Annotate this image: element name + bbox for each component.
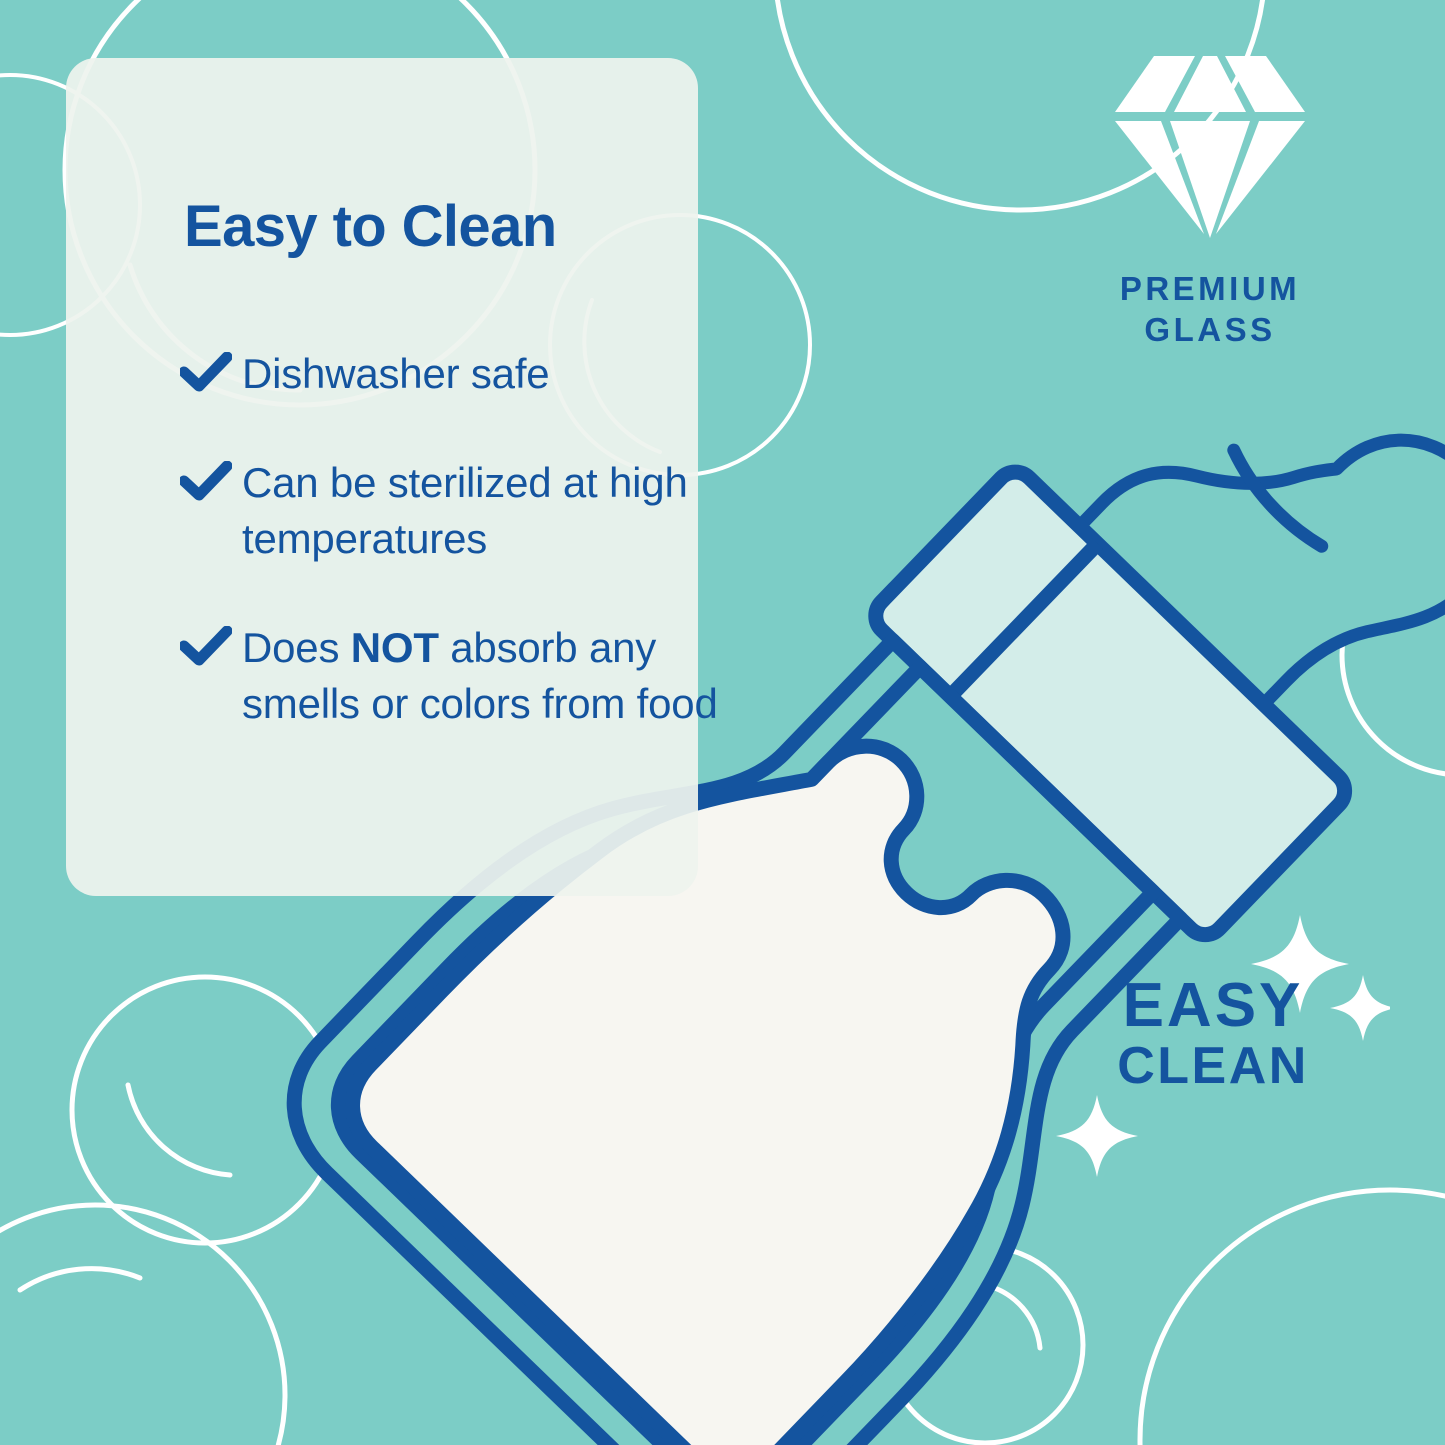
bullet-emphasis: NOT: [351, 624, 439, 671]
easy-clean-line-1: EASY: [1078, 975, 1348, 1037]
bullet-label: Does NOT absorb any smells or colors fro…: [232, 620, 740, 731]
premium-line-1: PREMIUM: [1090, 269, 1330, 310]
list-item: Dishwasher safe: [180, 346, 740, 401]
premium-glass-badge: PREMIUM GLASS: [1090, 50, 1330, 351]
list-item: Does NOT absorb any smells or colors fro…: [180, 620, 740, 731]
premium-glass-label: PREMIUM GLASS: [1090, 269, 1330, 351]
sparkle-icon: [1056, 1095, 1138, 1177]
check-icon: [180, 352, 232, 397]
check-icon: [180, 461, 232, 506]
check-icon: [180, 626, 232, 671]
easy-clean-badge: EASY CLEAN: [1078, 975, 1348, 1095]
page-title: Easy to Clean: [184, 197, 744, 258]
premium-line-2: GLASS: [1090, 310, 1330, 351]
feature-card: Easy to Clean Dishwasher safe Can be ste…: [66, 58, 698, 896]
bullet-label: Dishwasher safe: [232, 346, 549, 401]
infographic-canvas: Easy to Clean Dishwasher safe Can be ste…: [0, 0, 1445, 1445]
diamond-icon: [1111, 227, 1309, 244]
feature-bullet-list: Dishwasher safe Can be sterilized at hig…: [180, 346, 740, 785]
list-item: Can be sterilized at high temperatures: [180, 455, 740, 566]
easy-clean-line-2: CLEAN: [1078, 1037, 1348, 1095]
bullet-label: Can be sterilized at high temperatures: [232, 455, 740, 566]
